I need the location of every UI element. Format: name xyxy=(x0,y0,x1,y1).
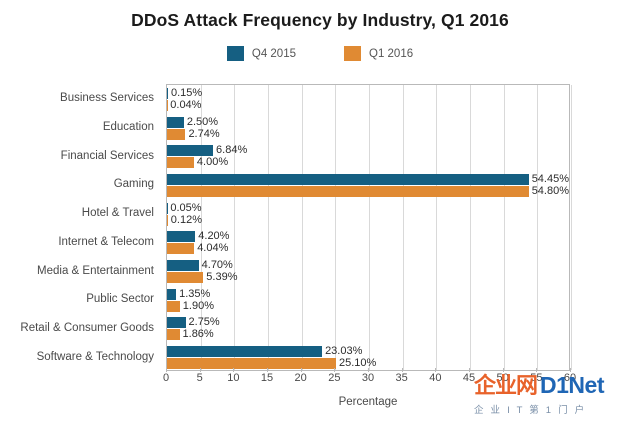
bar-value-label: 4.04% xyxy=(197,243,228,254)
bar-q1-2016[interactable] xyxy=(167,301,180,312)
bar-value-label: 0.05% xyxy=(170,203,201,214)
bar-value-label: 1.86% xyxy=(183,329,214,340)
x-tick-label: 40 xyxy=(429,372,441,384)
bar-line: 6.84% xyxy=(167,145,569,156)
y-axis-label: Internet & Telecom xyxy=(58,236,154,248)
bar-q4-2015[interactable] xyxy=(167,317,186,328)
bar-value-label: 0.15% xyxy=(171,88,202,99)
bar-line: 0.04% xyxy=(167,100,569,111)
bar-line: 1.86% xyxy=(167,329,569,340)
bar-group: 6.84%4.00% xyxy=(167,142,569,171)
legend-label-q1-2016: Q1 2016 xyxy=(369,48,413,60)
bar-q1-2016[interactable] xyxy=(167,243,194,254)
bar-value-label: 2.74% xyxy=(188,129,219,140)
bar-q1-2016[interactable] xyxy=(167,358,336,369)
bar-value-label: 25.10% xyxy=(339,358,376,369)
bar-line: 5.39% xyxy=(167,272,569,283)
bar-group: 4.20%4.04% xyxy=(167,229,569,258)
bar-value-label: 2.50% xyxy=(187,117,218,128)
bar-value-label: 2.75% xyxy=(189,317,220,328)
y-axis-label: Retail & Consumer Goods xyxy=(20,322,154,334)
bar-group: 0.15%0.04% xyxy=(167,85,569,114)
bar-q4-2015[interactable] xyxy=(167,88,168,99)
bar-q1-2016[interactable] xyxy=(167,129,185,140)
legend-item-q4-2015[interactable]: Q4 2015 xyxy=(227,46,296,61)
bar-value-label: 54.45% xyxy=(532,174,569,185)
x-tick-label: 5 xyxy=(197,372,203,384)
bar-value-label: 23.03% xyxy=(325,346,362,357)
bar-q1-2016[interactable] xyxy=(167,215,168,226)
bar-line: 4.70% xyxy=(167,260,569,271)
bar-line: 0.15% xyxy=(167,88,569,99)
bar-q1-2016[interactable] xyxy=(167,329,180,340)
legend-swatch-q4-2015 xyxy=(227,46,244,61)
bar-value-label: 4.20% xyxy=(198,231,229,242)
y-axis-labels: Business ServicesEducationFinancial Serv… xyxy=(0,84,160,371)
x-tick-label: 25 xyxy=(328,372,340,384)
bar-q4-2015[interactable] xyxy=(167,289,176,300)
bar-value-label: 1.35% xyxy=(179,289,210,300)
y-axis-label: Financial Services xyxy=(61,150,154,162)
bar-q4-2015[interactable] xyxy=(167,231,195,242)
bar-line: 4.20% xyxy=(167,231,569,242)
bar-value-label: 54.80% xyxy=(532,186,569,197)
bar-line: 2.75% xyxy=(167,317,569,328)
bar-value-label: 6.84% xyxy=(216,145,247,156)
bar-group: 4.70%5.39% xyxy=(167,257,569,286)
legend-label-q4-2015: Q4 2015 xyxy=(252,48,296,60)
bar-value-label: 4.00% xyxy=(197,157,228,168)
bar-rows: 0.15%0.04%2.50%2.74%6.84%4.00%54.45%54.8… xyxy=(167,85,569,370)
bar-line: 54.80% xyxy=(167,186,569,197)
watermark-logo: 企业网 D1Net xyxy=(474,374,640,397)
bar-value-label: 1.90% xyxy=(183,301,214,312)
bar-group: 0.05%0.12% xyxy=(167,200,569,229)
bar-group: 54.45%54.80% xyxy=(167,171,569,200)
watermark: 企业网 D1Net 企 业 I T 第 1 门 户 xyxy=(474,374,640,420)
y-axis-label: Software & Technology xyxy=(37,351,154,363)
chart-legend: Q4 2015 Q1 2016 xyxy=(0,46,640,61)
chart-title: DDoS Attack Frequency by Industry, Q1 20… xyxy=(0,10,640,31)
bar-line: 54.45% xyxy=(167,174,569,185)
y-axis-label: Business Services xyxy=(60,92,154,104)
bar-q4-2015[interactable] xyxy=(167,145,213,156)
bar-line: 2.50% xyxy=(167,117,569,128)
bar-value-label: 4.70% xyxy=(202,260,233,271)
bar-q1-2016[interactable] xyxy=(167,272,203,283)
x-tick-label: 0 xyxy=(163,372,169,384)
bar-line: 0.12% xyxy=(167,215,569,226)
watermark-brand-cn: 企业网 xyxy=(474,375,537,397)
bar-line: 4.04% xyxy=(167,243,569,254)
bar-value-label: 5.39% xyxy=(206,272,237,283)
bar-q4-2015[interactable] xyxy=(167,346,322,357)
bar-q4-2015[interactable] xyxy=(167,117,184,128)
bar-line: 2.74% xyxy=(167,129,569,140)
x-tick-label: 20 xyxy=(295,372,307,384)
bar-line: 23.03% xyxy=(167,346,569,357)
bar-value-label: 0.12% xyxy=(171,215,202,226)
bar-q4-2015[interactable] xyxy=(167,260,199,271)
bar-line: 1.90% xyxy=(167,301,569,312)
gridline xyxy=(571,85,572,370)
bar-line: 1.35% xyxy=(167,289,569,300)
x-tick-label: 15 xyxy=(261,372,273,384)
bar-q1-2016[interactable] xyxy=(167,186,529,197)
watermark-tagline: 企 业 I T 第 1 门 户 xyxy=(474,402,640,416)
bar-line: 4.00% xyxy=(167,157,569,168)
bar-group: 1.35%1.90% xyxy=(167,286,569,315)
x-tick-label: 30 xyxy=(362,372,374,384)
x-tick-label: 10 xyxy=(227,372,239,384)
y-axis-label: Public Sector xyxy=(86,293,154,305)
bar-value-label: 0.04% xyxy=(170,100,201,111)
bar-line: 0.05% xyxy=(167,203,569,214)
bar-q4-2015[interactable] xyxy=(167,174,529,185)
x-tick-label: 35 xyxy=(396,372,408,384)
y-axis-label: Hotel & Travel xyxy=(82,207,154,219)
bar-group: 2.50%2.74% xyxy=(167,114,569,143)
y-axis-label: Education xyxy=(103,121,154,133)
y-axis-label: Media & Entertainment xyxy=(37,265,154,277)
watermark-brand-en: D1Net xyxy=(540,374,604,397)
legend-item-q1-2016[interactable]: Q1 2016 xyxy=(344,46,413,61)
bar-q1-2016[interactable] xyxy=(167,157,194,168)
plot-area: 0.15%0.04%2.50%2.74%6.84%4.00%54.45%54.8… xyxy=(166,84,570,371)
bar-group: 2.75%1.86% xyxy=(167,315,569,344)
legend-swatch-q1-2016 xyxy=(344,46,361,61)
y-axis-label: Gaming xyxy=(114,178,154,190)
